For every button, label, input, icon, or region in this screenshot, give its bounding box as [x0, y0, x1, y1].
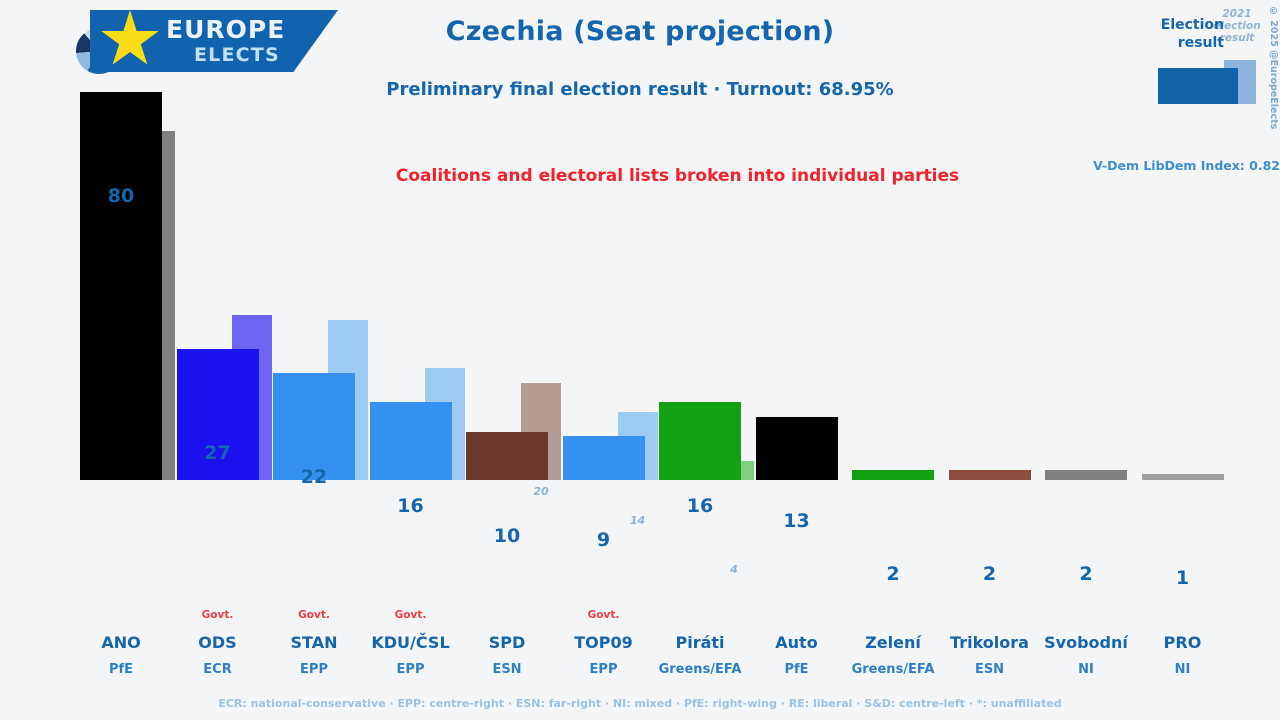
value-current-auto: 13 [736, 510, 858, 532]
bar-current-top09 [563, 436, 645, 480]
value-previous-spd: 20 [511, 485, 571, 498]
footer-legend-note: ECR: national-conservative · EPP: centre… [0, 697, 1280, 710]
bar-current-ano [80, 92, 162, 480]
value-current-kdu-sl: 16 [350, 495, 472, 517]
govt-label-top09: Govt. [543, 609, 665, 621]
bar-current-trikolora [949, 470, 1031, 480]
party-name-pro: PRO [1107, 633, 1259, 652]
bar-current-pir-ti [659, 402, 741, 480]
value-current-ods: 27 [157, 442, 279, 464]
bar-current-spd [466, 432, 548, 481]
value-current-stan: 22 [253, 466, 375, 488]
bar-chart-plot: 7280ANOPfE3427Govt.ODSECR3322Govt.STANEP… [0, 0, 1280, 600]
value-previous-pir-ti: 4 [704, 563, 764, 576]
value-current-top09: 9 [543, 529, 665, 551]
bar-current-pro [1142, 474, 1224, 480]
bar-current-stan [273, 373, 355, 480]
bar-current-auto [756, 417, 838, 480]
value-current-pro: 1 [1122, 567, 1244, 589]
value-current-ano: 80 [60, 185, 182, 207]
bar-current-kdu-sl [370, 402, 452, 480]
bar-current-svobodn- [1045, 470, 1127, 480]
govt-label-kdu-sl: Govt. [350, 609, 472, 621]
chart-root: EUROPE ELECTS Czechia (Seat projection) … [0, 0, 1280, 720]
party-group-pro: NI [1107, 662, 1259, 677]
bar-current-zelen- [852, 470, 934, 480]
